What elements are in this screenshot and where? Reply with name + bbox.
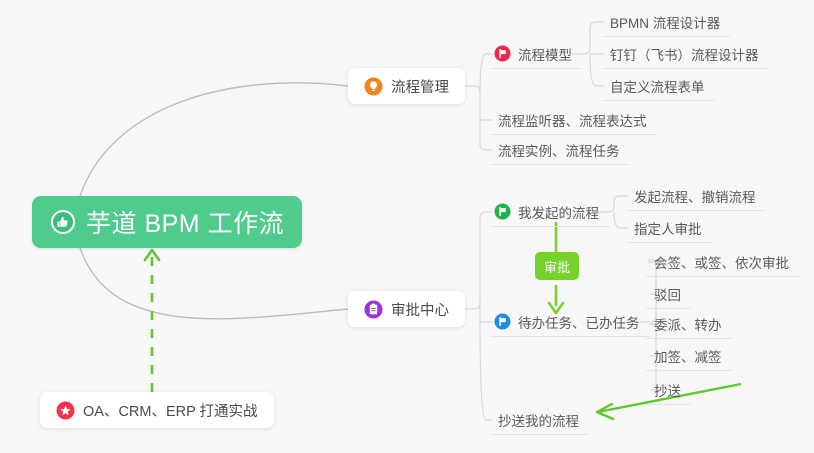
node-start-cancel-process-label: 发起流程、撤销流程 xyxy=(634,186,756,206)
node-delegate-transfer[interactable]: 委派、转办 xyxy=(646,309,732,339)
node-todo-done-tasks-label: 待办任务、已办任务 xyxy=(518,312,640,332)
lightbulb-pin-icon xyxy=(364,77,383,96)
node-dingtalk-designer-label: 钉钉（飞书）流程设计器 xyxy=(610,44,759,64)
annotation-arrowhead-up-icon xyxy=(145,250,159,260)
node-process-listener-label: 流程监听器、流程表达式 xyxy=(498,110,647,130)
node-carbon-copy[interactable]: 抄送 xyxy=(646,375,691,405)
root-label: 芋道 BPM 工作流 xyxy=(86,204,284,240)
bottom-note-label: OA、CRM、ERP 打通实战 xyxy=(83,400,258,421)
branch-approval-center-label: 审批中心 xyxy=(391,299,449,320)
branch-process-management[interactable]: 流程管理 xyxy=(348,68,465,104)
node-add-remove-sign-label: 加签、减签 xyxy=(654,346,722,366)
flag-circle-icon xyxy=(494,203,511,220)
branch-approval-center[interactable]: 审批中心 xyxy=(348,291,465,327)
node-assignee-approval[interactable]: 指定人审批 xyxy=(626,213,712,243)
node-todo-done-tasks[interactable]: 待办任务、已办任务 xyxy=(490,307,650,337)
node-delegate-transfer-label: 委派、转办 xyxy=(654,314,722,334)
edge-approval-center-trunk xyxy=(464,212,492,309)
node-process-instance[interactable]: 流程实例、流程任务 xyxy=(490,135,630,165)
flag-circle-icon xyxy=(494,313,511,330)
node-add-remove-sign[interactable]: 加签、减签 xyxy=(646,341,732,371)
mindmap-canvas: 芋道 BPM 工作流 流程管理 流程模型 BPMN 流程设计器 钉钉（飞书）流程… xyxy=(0,0,814,453)
node-reject[interactable]: 驳回 xyxy=(646,279,691,309)
node-process-instance-label: 流程实例、流程任务 xyxy=(498,140,620,160)
node-carbon-copy-label: 抄送 xyxy=(654,380,681,400)
clipboard-circle-icon xyxy=(364,300,383,319)
bottom-note-card[interactable]: OA、CRM、ERP 打通实战 xyxy=(40,392,274,428)
annotation-arrowhead-left-icon xyxy=(597,404,613,419)
root-node[interactable]: 芋道 BPM 工作流 xyxy=(32,196,302,248)
node-my-initiated[interactable]: 我发起的流程 xyxy=(490,197,609,227)
node-cc-to-me-label: 抄送我的流程 xyxy=(498,410,579,430)
node-assignee-approval-label: 指定人审批 xyxy=(634,218,702,238)
node-start-cancel-process[interactable]: 发起流程、撤销流程 xyxy=(626,181,766,211)
node-my-initiated-label: 我发起的流程 xyxy=(518,202,599,222)
node-process-model-label: 流程模型 xyxy=(518,44,572,64)
edge-root-to-process-management xyxy=(80,83,348,196)
node-process-listener[interactable]: 流程监听器、流程表达式 xyxy=(490,105,657,135)
node-countersign-label: 会签、或签、依次审批 xyxy=(654,252,789,272)
edge-root-to-approval-center xyxy=(80,248,348,319)
node-bpmn-designer-label: BPMN 流程设计器 xyxy=(610,12,720,32)
edge-process-management-trunk xyxy=(464,86,492,150)
node-dingtalk-designer[interactable]: 钉钉（飞书）流程设计器 xyxy=(602,39,769,69)
approval-badge-label: 审批 xyxy=(544,257,570,276)
thumbs-up-icon xyxy=(50,209,76,235)
branch-process-management-label: 流程管理 xyxy=(391,76,449,97)
node-countersign[interactable]: 会签、或签、依次审批 xyxy=(646,247,799,277)
node-bpmn-designer[interactable]: BPMN 流程设计器 xyxy=(602,7,730,37)
node-reject-label: 驳回 xyxy=(654,284,681,304)
node-custom-form-label: 自定义流程表单 xyxy=(610,76,705,96)
approval-badge: 审批 xyxy=(535,252,579,280)
star-circle-icon xyxy=(56,401,75,420)
node-cc-to-me[interactable]: 抄送我的流程 xyxy=(490,405,589,435)
node-process-model[interactable]: 流程模型 xyxy=(490,39,582,69)
flag-circle-icon xyxy=(494,45,511,62)
node-custom-form[interactable]: 自定义流程表单 xyxy=(602,71,715,101)
